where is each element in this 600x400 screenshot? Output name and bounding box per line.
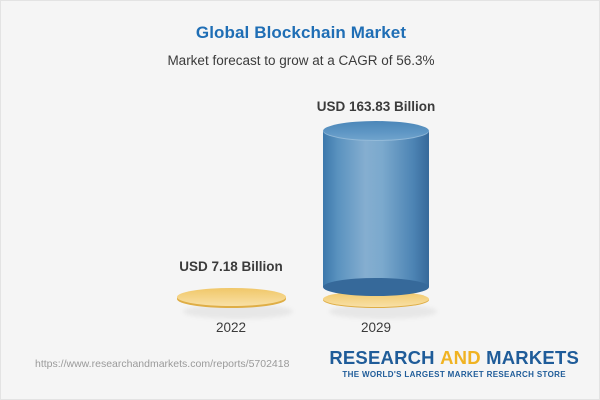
research-and-markets-logo[interactable]: RESEARCH AND MARKETS THE WORLD'S LARGEST… <box>329 348 579 379</box>
chart-plot-area: USD 7.18 Billion 2022 USD 163.83 Billion… <box>1 1 600 346</box>
logo-tagline: THE WORLD'S LARGEST MARKET RESEARCH STOR… <box>329 370 579 379</box>
bar-2022-category-label: 2022 <box>181 320 281 335</box>
logo-word-markets: MARKETS <box>486 347 579 368</box>
bar-2022-value-label: USD 7.18 Billion <box>151 259 311 274</box>
chart-footer: https://www.researchandmarkets.com/repor… <box>1 344 600 399</box>
logo-wordmark: RESEARCH AND MARKETS <box>329 348 579 367</box>
logo-word-research: RESEARCH <box>329 347 434 368</box>
bar-2029-value-label: USD 163.83 Billion <box>296 99 456 114</box>
bar-2029-top-ellipse <box>323 121 429 141</box>
source-url[interactable]: https://www.researchandmarkets.com/repor… <box>35 358 289 370</box>
bar-2022[interactable] <box>177 288 286 308</box>
bar-2029-body <box>323 131 429 287</box>
bar-2029-category-label: 2029 <box>326 320 426 335</box>
chart-card: Global Blockchain Market Market forecast… <box>0 0 600 400</box>
bar-2029-bottom-ellipse <box>323 278 429 296</box>
bar-2029[interactable] <box>323 121 429 296</box>
bar-2022-top-ellipse <box>177 288 286 306</box>
logo-word-and: AND <box>440 347 481 368</box>
